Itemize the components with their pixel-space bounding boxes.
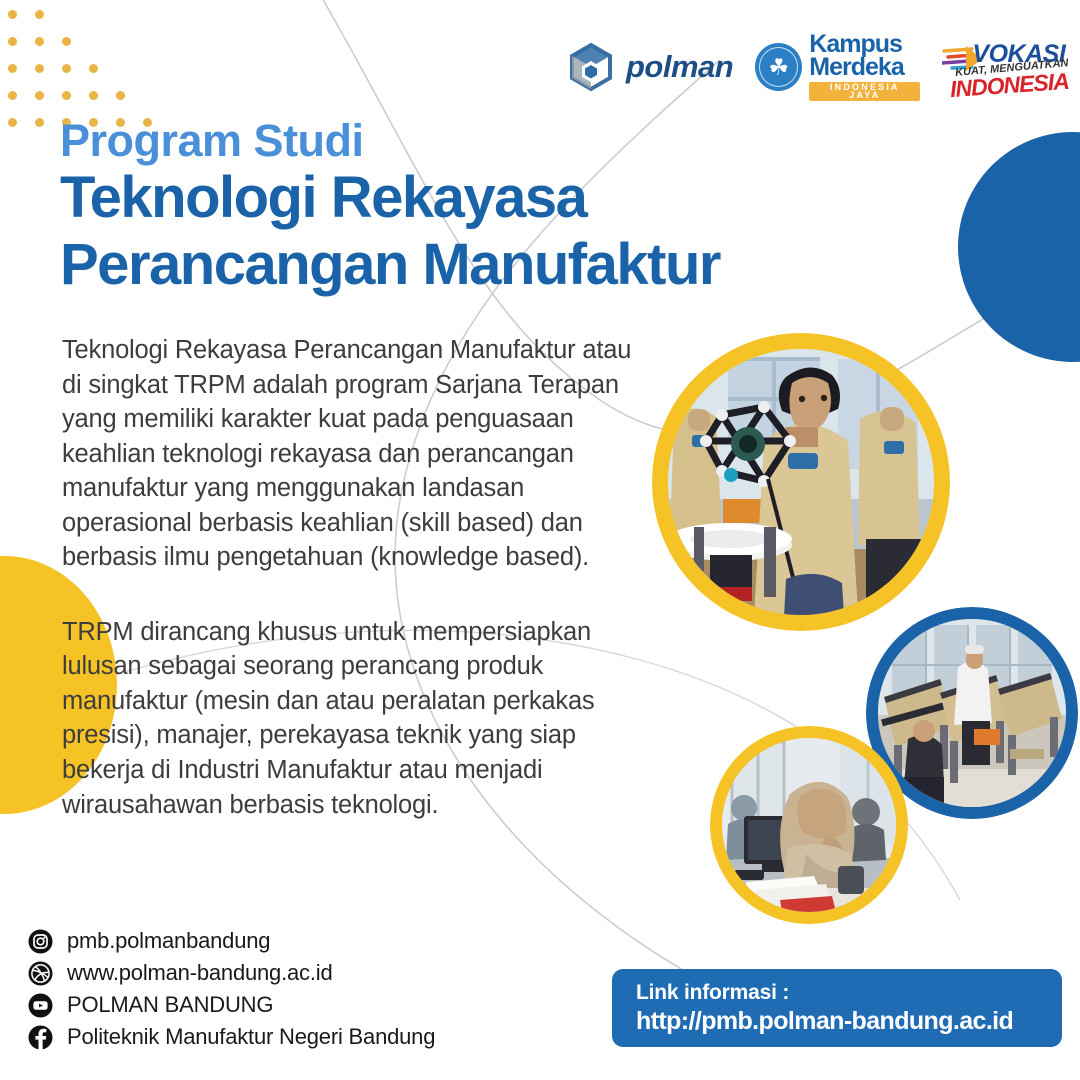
decorative-dot bbox=[62, 64, 71, 73]
paragraph-1: Teknologi Rekayasa Perancangan Manufaktu… bbox=[62, 333, 637, 575]
decorative-dot bbox=[89, 64, 98, 73]
decorative-dot bbox=[8, 64, 17, 73]
decorative-dot bbox=[89, 91, 98, 100]
contact-list: pmb.polmanbandung www.polman-bandung.ac.… bbox=[28, 925, 435, 1053]
decorative-dot bbox=[8, 91, 17, 100]
poster-canvas: polman ☘ Kampus Merdeka INDONESIA JAYA V… bbox=[0, 0, 1080, 1080]
link-info-box[interactable]: Link informasi : http://pmb.polman-bandu… bbox=[612, 969, 1062, 1047]
kampus-merdeka-line2: Merdeka bbox=[809, 56, 920, 79]
kampus-merdeka-logo: ☘ Kampus Merdeka INDONESIA JAYA bbox=[755, 33, 920, 102]
heading-title-line1: Teknologi Rekayasa bbox=[60, 167, 930, 230]
decorative-dot bbox=[35, 118, 44, 127]
contact-row-website[interactable]: www.polman-bandung.ac.id bbox=[28, 957, 435, 989]
youtube-icon bbox=[28, 993, 53, 1018]
heading-kicker: Program Studi bbox=[60, 118, 930, 163]
paragraph-2: TRPM dirancang khusus untuk mempersiapka… bbox=[62, 615, 637, 822]
heading-title-line2: Perancangan Manufaktur bbox=[60, 234, 930, 297]
contact-row-youtube[interactable]: POLMAN BANDUNG bbox=[28, 989, 435, 1021]
link-info-label: Link informasi : bbox=[636, 980, 1040, 1006]
contact-label-instagram: pmb.polmanbandung bbox=[67, 930, 270, 952]
tut-wuri-handayani-seal-icon: ☘ bbox=[755, 43, 802, 91]
polman-wordmark: polman bbox=[626, 49, 733, 85]
decorative-dot bbox=[8, 10, 17, 19]
dribbble-icon bbox=[28, 961, 53, 986]
decorative-dot bbox=[35, 91, 44, 100]
polman-logo: polman bbox=[565, 41, 733, 93]
polman-hexagon-icon bbox=[565, 41, 617, 93]
decorative-dot bbox=[8, 118, 17, 127]
decorative-dot bbox=[35, 37, 44, 46]
decorative-dot bbox=[8, 37, 17, 46]
decorative-dot bbox=[116, 91, 125, 100]
decorative-dot bbox=[35, 64, 44, 73]
contact-row-facebook[interactable]: Politeknik Manufaktur Negeri Bandung bbox=[28, 1021, 435, 1053]
heading-block: Program Studi Teknologi Rekayasa Peranca… bbox=[60, 118, 930, 296]
contact-label-youtube: POLMAN BANDUNG bbox=[67, 994, 273, 1016]
photo-student-computer bbox=[710, 726, 908, 924]
contact-row-instagram[interactable]: pmb.polmanbandung bbox=[28, 925, 435, 957]
vokasi-logo: VOKASI KUAT, MENGUATKAN INDONESIA bbox=[942, 36, 1070, 98]
logo-row: polman ☘ Kampus Merdeka INDONESIA JAYA V… bbox=[565, 22, 1070, 112]
decorative-dot bbox=[62, 91, 71, 100]
decorative-dot bbox=[35, 10, 44, 19]
photo-student-3d-scanner bbox=[652, 333, 950, 631]
kampus-merdeka-tagline: INDONESIA JAYA bbox=[809, 82, 920, 102]
photo-3-image bbox=[722, 738, 896, 912]
contact-label-website: www.polman-bandung.ac.id bbox=[67, 962, 332, 984]
link-info-url[interactable]: http://pmb.polman-bandung.ac.id bbox=[636, 1006, 1040, 1036]
decorative-dot bbox=[62, 37, 71, 46]
body-copy: Teknologi Rekayasa Perancangan Manufaktu… bbox=[62, 333, 637, 822]
facebook-icon bbox=[28, 1025, 53, 1050]
photo-1-image bbox=[668, 349, 934, 615]
contact-label-facebook: Politeknik Manufaktur Negeri Bandung bbox=[67, 1026, 435, 1048]
instagram-icon bbox=[28, 929, 53, 954]
photo-2-image bbox=[878, 619, 1066, 807]
